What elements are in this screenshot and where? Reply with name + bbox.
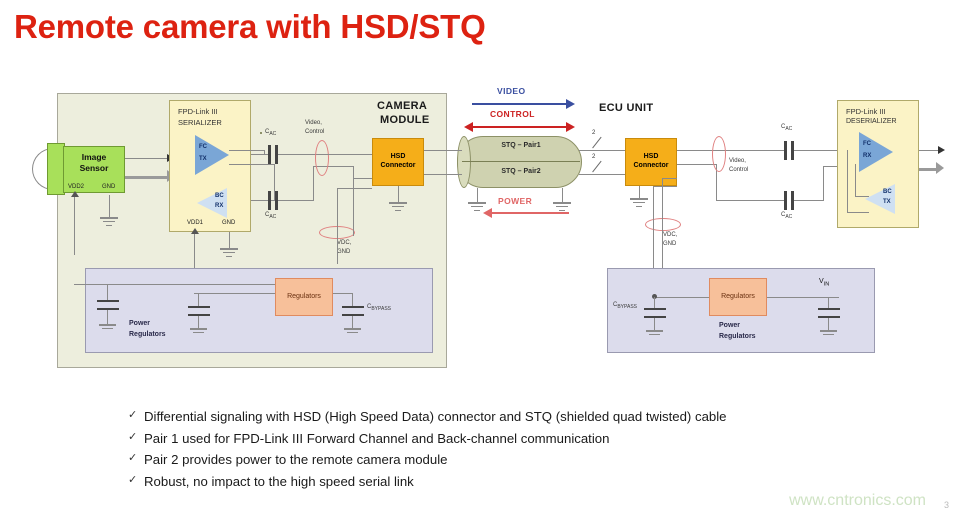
sensor-vdd2-label: VDD2 — [68, 184, 84, 190]
camera-hsd-connector-label-line2: Connector — [381, 162, 416, 171]
list-item: ✓ Robust, no impact to the high speed se… — [128, 473, 928, 490]
check-icon: ✓ — [128, 473, 144, 486]
bullet-text: Robust, no impact to the high speed seri… — [144, 473, 414, 490]
camera-module-title-line1: CAMERA — [377, 100, 427, 112]
deserializer-label-line1: FPD-Link III — [846, 107, 918, 116]
ecu-power-regulators-title-line1: Power — [719, 322, 740, 329]
bc-rx-label-line1: BC — [215, 193, 224, 199]
camera-vdc-gnd-label-line2: GND — [337, 249, 350, 255]
vdd2-arrow-icon — [71, 191, 79, 197]
ecu-hsd-connector-label-line1: HSD — [644, 153, 659, 162]
ecu-power-regulators-title-line2: Regulators — [719, 333, 756, 340]
cap-ac-bottom-label: CAC — [265, 212, 276, 220]
ecu-capacitor-ac-bottom — [784, 191, 787, 210]
bus-width-top-label: 2 — [592, 130, 595, 136]
camera-regulators-label: Regulators — [287, 293, 321, 302]
fc-rx-label-line1: FC — [863, 141, 871, 147]
ecu-video-control-label-line2: Control — [729, 167, 748, 173]
ecu-capacitor-ac-top — [784, 141, 787, 160]
page-number: 3 — [944, 500, 949, 510]
ecu-signal-pair-marker — [712, 136, 726, 172]
serializer-label-line2: SERIALIZER — [178, 118, 250, 127]
fc-rx-label-line2: RX — [863, 153, 871, 159]
camera-hsd-connector-label-line1: HSD — [391, 153, 406, 162]
bullet-list: ✓ Differential signaling with HSD (High … — [128, 408, 928, 495]
list-item: ✓ Pair 1 used for FPD-Link III Forward C… — [128, 430, 928, 447]
ground-symbol — [100, 217, 118, 219]
fc-tx-triangle-icon — [195, 135, 229, 175]
check-icon: ✓ — [128, 430, 144, 443]
capacitor-ac-bottom — [268, 191, 271, 210]
stq-pair2-label: STQ – Pair2 — [465, 168, 577, 175]
ecu-bypass-cap-label: CBYPASS — [613, 302, 637, 310]
bus-width-slash-top — [592, 137, 602, 149]
bus-width-slash-bottom — [592, 161, 602, 173]
image-sensor-label-line1: Image — [82, 152, 107, 163]
architecture-diagram: CAMERA MODULE Image Sensor VDD2 GND FPD-… — [47, 88, 927, 370]
camera-video-control-label-line2: Control — [305, 129, 324, 135]
camera-power-regulators-title-line2: Regulators — [129, 331, 166, 338]
bullet-text: Pair 1 used for FPD-Link III Forward Cha… — [144, 430, 609, 447]
fc-tx-label-line1: FC — [199, 144, 207, 150]
serializer-label-line1: FPD-Link III — [178, 107, 250, 116]
video-arrow-label: VIDEO — [497, 86, 525, 96]
camera-power-regulators-title-line1: Power — [129, 320, 150, 327]
fc-rx-triangle-icon — [859, 132, 893, 172]
power-arrow-label: POWER — [498, 196, 532, 206]
ecu-unit-title: ECU UNIT — [599, 102, 653, 114]
stq-pair1-label: STQ – Pair1 — [465, 142, 577, 149]
camera-video-control-label-line1: Video, — [305, 120, 322, 126]
list-item: ✓ Differential signaling with HSD (High … — [128, 408, 928, 425]
capacitor-ac-top — [268, 145, 271, 164]
bullet-text: Differential signaling with HSD (High Sp… — [144, 408, 727, 425]
ecu-regulators-block: Regulators — [709, 278, 767, 316]
watermark: www.cntronics.com — [789, 492, 926, 510]
cap-ac-top-label: CAC — [265, 129, 276, 137]
sensor-gnd-label: GND — [102, 184, 115, 190]
ecu-cap-ac-bottom-label: CAC — [781, 212, 792, 220]
ecu-video-control-label-line1: Video, — [729, 158, 746, 164]
serializer-gnd-label: GND — [222, 220, 235, 226]
signal-pair-marker — [315, 140, 329, 176]
control-arrow-label: CONTROL — [490, 109, 535, 119]
ecu-vdc-gnd-label-line1: VDC, — [663, 232, 677, 238]
check-icon: ✓ — [128, 451, 144, 464]
ecu-hsd-connector-label-line2: Connector — [634, 162, 669, 171]
ecu-vdc-gnd-label-line2: GND — [663, 241, 676, 247]
bc-tx-label-line2: TX — [883, 199, 891, 205]
camera-hsd-connector: HSD Connector — [372, 138, 424, 186]
fc-tx-label-line2: TX — [199, 156, 207, 162]
page-title: Remote camera with HSD/STQ — [14, 8, 486, 46]
ecu-cap-ac-top-label: CAC — [781, 124, 792, 132]
check-icon: ✓ — [128, 408, 144, 421]
image-sensor-label-line2: Sensor — [80, 163, 109, 174]
bc-tx-label-line1: BC — [883, 189, 892, 195]
ecu-vin-label: VIN — [819, 278, 829, 287]
camera-module-title-line2: MODULE — [380, 114, 429, 126]
bullet-text: Pair 2 provides power to the remote came… — [144, 451, 447, 468]
camera-vdc-gnd-label-line1: VDC, — [337, 240, 351, 246]
bc-rx-label-line2: RX — [215, 203, 223, 209]
camera-regulators-block: Regulators — [275, 278, 333, 316]
bus-width-bottom-label: 2 — [592, 154, 595, 160]
list-item: ✓ Pair 2 provides power to the remote ca… — [128, 451, 928, 468]
camera-bypass-cap-label: CBYPASS — [367, 304, 391, 312]
deserializer-label-line2: DESERIALIZER — [846, 118, 918, 127]
serializer-vdd1-label: VDD1 — [187, 220, 203, 226]
ecu-regulators-label: Regulators — [721, 293, 755, 302]
